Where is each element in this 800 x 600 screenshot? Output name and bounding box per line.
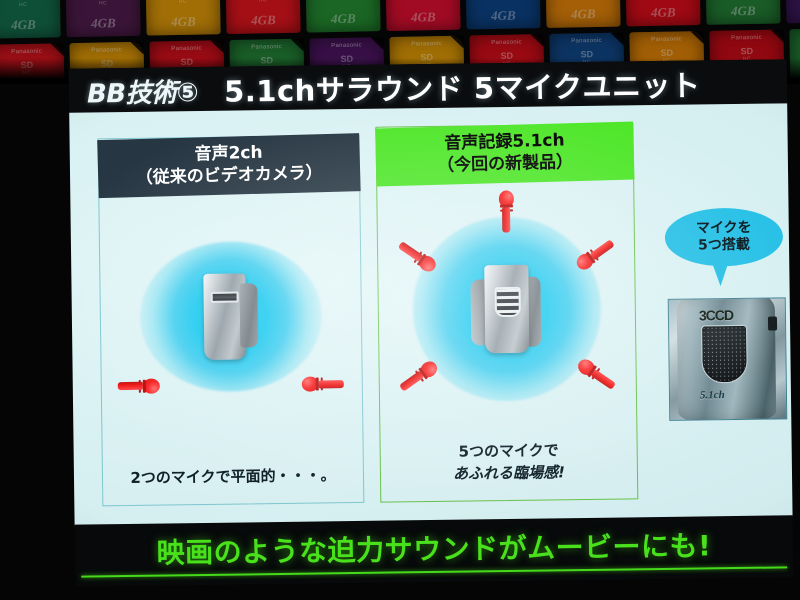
product-photo-camcorder: 3CCD 5.1ch [668, 297, 788, 421]
sd-logo-icon: SDHC [97, 0, 110, 8]
sd-card: PanasonicSDHC4GB [145, 0, 220, 36]
slide-bottom-banner: 映画のような迫力サウンドがムービーにも! [75, 515, 794, 586]
sd-card-capacity: 4GB [0, 16, 61, 33]
sd-card: PanasonicSDHC4GB [545, 0, 620, 28]
sd-card-capacity: 4GB [226, 12, 300, 29]
slide-title-main: 5.1chサラウンド 5マイクユニット [224, 62, 701, 110]
microphone-icon [499, 190, 515, 232]
screenshot-stage: PanasonicSDHC4GBPanasonicSDHC4GBPanasoni… [0, 0, 800, 600]
camcorder-side-button [768, 316, 777, 330]
sd-card-capacity: 4GB [386, 9, 460, 26]
slide-board: 音声2ch （従来のビデオカメラ） [69, 103, 792, 526]
diagram-51ch [377, 190, 636, 427]
sd-card: PanasonicSDHC4GB [465, 0, 540, 29]
sd-logo-icon: SDHC [257, 0, 270, 4]
sd-card-capacity: 4GB [706, 2, 780, 19]
sd-card-capacity: 4GB [546, 6, 620, 23]
sd-logo-icon: SDHC [416, 0, 429, 1]
callout-line2: 5つ搭載 [698, 237, 750, 255]
panel-audio-2ch: 音声2ch （従来のビデオカメラ） [98, 135, 365, 506]
sd-card-capacity: 4GB [786, 1, 800, 18]
camcorder-pictogram-51ch [468, 265, 545, 354]
sd-card-capacity: 4GB [146, 13, 220, 30]
sd-card-brand: Panasonic [629, 36, 703, 43]
sd-card: PanasonicSDHC4GB [65, 0, 140, 37]
diagram-2ch [99, 202, 362, 431]
sd-card: PanasonicSDHC4GB [225, 0, 300, 34]
presentation-slide: BB技術⑤ 5.1chサラウンド 5マイクユニット 音声2ch （従来のビデオカ… [69, 59, 794, 586]
microphone-icon [118, 379, 160, 395]
panel-51ch-caption-line2: あふれる臨場感! [381, 460, 637, 485]
sd-card: PanasonicSDHC4GB [0, 0, 61, 39]
microphone-icon [302, 376, 344, 392]
panel-audio-51ch: 音声記録5.1ch （今回の新製品） [375, 123, 638, 502]
callout-five-microphones: マイクを 5つ搭載 [665, 207, 784, 267]
microphone-icon [574, 236, 617, 273]
sd-card-brand: Panasonic [470, 39, 544, 46]
camcorder-pictogram-2ch [199, 273, 262, 360]
sd-logo-icon: SDHC [177, 0, 190, 6]
sd-card-brand: Panasonic [310, 42, 384, 49]
sd-card-brand: Panasonic [789, 33, 800, 40]
sd-card-brand: Panasonic [0, 48, 64, 55]
sd-card-capacity: 4GB [466, 7, 540, 24]
sd-card: PanasonicSDHC4GB [305, 0, 380, 33]
sd-card: PanasonicSDHC4GB [625, 0, 700, 26]
sd-card-capacity: 4GB [66, 15, 140, 32]
panel-51ch-caption: 5つのマイクで あふれる臨場感! [381, 438, 638, 485]
sd-card-brand: Panasonic [390, 41, 464, 48]
sd-card-brand: Panasonic [709, 34, 783, 41]
panel-2ch-header: 音声2ch （従来のビデオカメラ） [97, 133, 360, 198]
panel-2ch-caption: 2つのマイクで平面的・・・。 [103, 464, 363, 489]
microphone-icon [397, 358, 440, 395]
photo-badge-3ccd: 3CCD [699, 307, 733, 323]
sd-card-brand: Panasonic [70, 47, 144, 54]
sd-logo-icon: SDHC [337, 0, 350, 3]
sd-card-brand: Panasonic [230, 44, 304, 51]
banner-text: 映画のような迫力サウンドがムービーにも! [75, 523, 793, 572]
sd-logo-icon: SDHC [17, 0, 30, 9]
sd-card: PanasonicSDHC4GB [785, 0, 800, 23]
sd-card-capacity: 4GB [626, 4, 700, 21]
callout-line1: マイクを [696, 220, 752, 238]
sd-card: PanasonicSDHC4GB [705, 0, 780, 25]
microphone-grille [701, 325, 748, 384]
sd-card-capacity: 4GB [306, 10, 380, 27]
slide-title-chip: BB技術⑤ [87, 72, 199, 110]
photo-badge-51ch: 5.1ch [700, 389, 725, 401]
microphone-icon [575, 356, 618, 392]
sd-card-brand: Panasonic [550, 38, 624, 45]
sd-card: PanasonicSDHC4GB [385, 0, 460, 31]
sd-card-brand: Panasonic [150, 45, 224, 52]
panel-51ch-header: 音声記録5.1ch （今回の新製品） [375, 122, 634, 187]
